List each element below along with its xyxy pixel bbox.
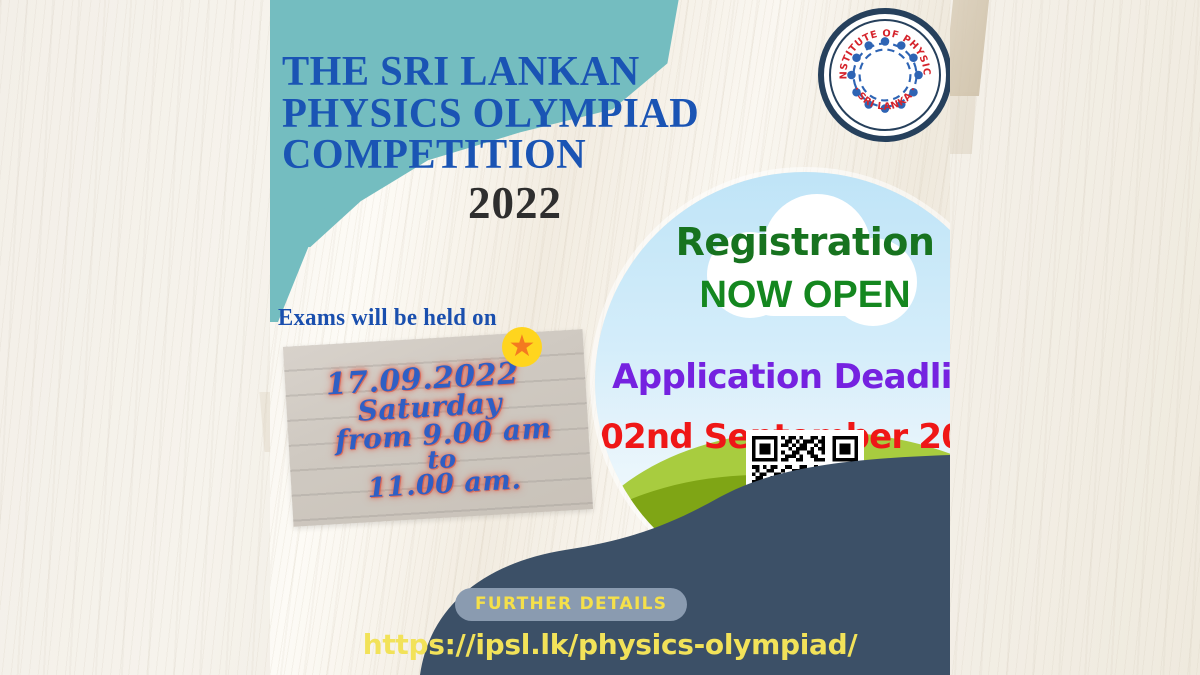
title-line-3: COMPETITION (282, 135, 922, 177)
screenshot-canvas: THE SRI LANKAN PHYSICS OLYMPIAD COMPETIT… (0, 0, 1200, 675)
star-icon: ★ (502, 327, 542, 367)
svg-text:· SRI LANKA ·: · SRI LANKA · (850, 85, 919, 113)
institute-of-physics-seal-icon: · INSTITUTE OF PHYSICS · · SRI LANKA · (818, 8, 950, 142)
registration-label: Registration (595, 220, 950, 264)
physics-olympiad-poster: THE SRI LANKAN PHYSICS OLYMPIAD COMPETIT… (270, 0, 950, 675)
star-glyph: ★ (509, 332, 536, 362)
further-details-badge: FURTHER DETAILS (455, 588, 687, 621)
application-deadline-label: Application Deadline (595, 357, 950, 397)
exams-heading: Exams will be held on (278, 305, 592, 332)
website-url-link[interactable]: https://ipsl.lk/physics-olympiad/ (270, 628, 950, 661)
title-year: 2022 (468, 181, 942, 226)
registration-status: NOW OPEN (595, 274, 950, 317)
